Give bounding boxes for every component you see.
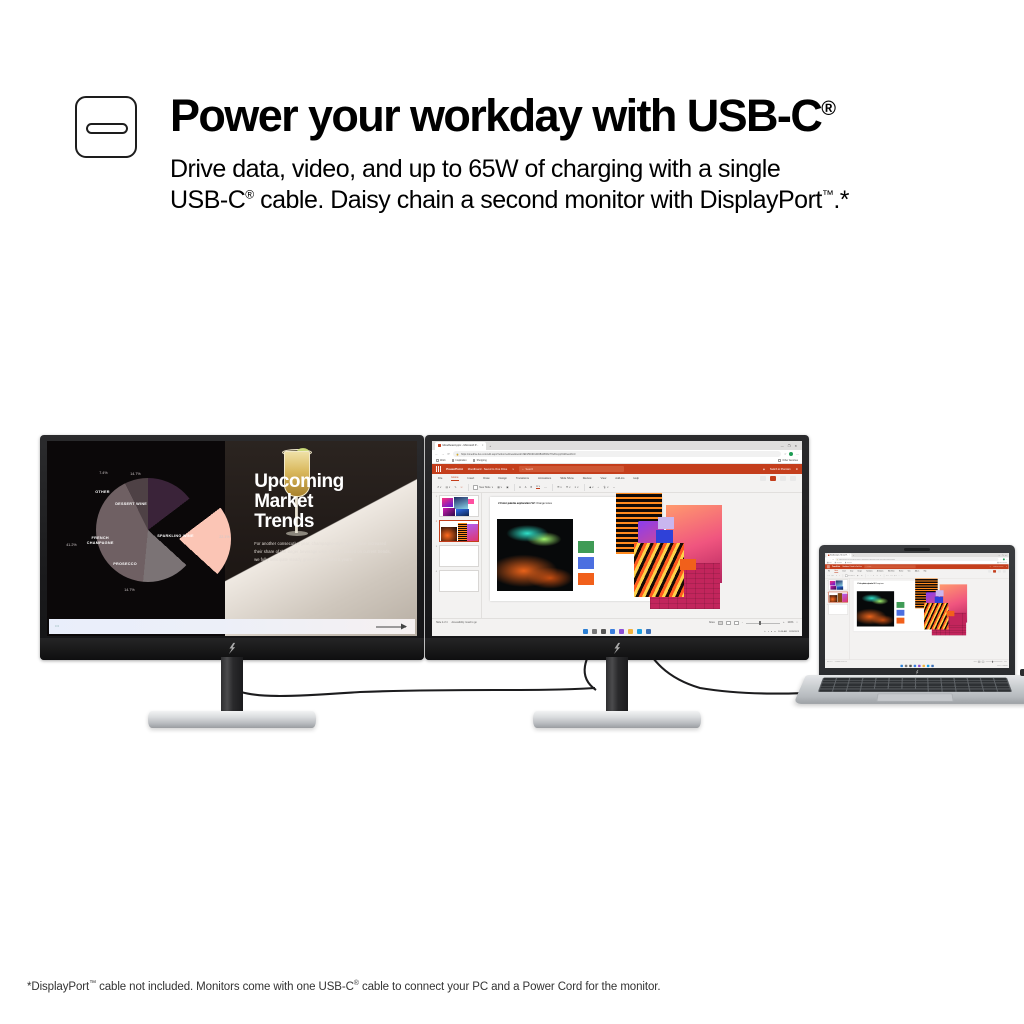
new-slide-button[interactable]: New Slide ∨ bbox=[845, 574, 855, 576]
reset-icon[interactable]: ▣ bbox=[861, 575, 862, 576]
color-swatch-orange[interactable] bbox=[897, 618, 905, 624]
slide-thumbnail-1[interactable] bbox=[439, 495, 480, 517]
slide-canvas[interactable]: // Color palette exploration V2: Orange … bbox=[490, 497, 662, 601]
normal-view-icon[interactable] bbox=[718, 621, 723, 625]
color-swatch-green[interactable] bbox=[897, 602, 905, 608]
thumb2-img-b bbox=[458, 523, 467, 541]
key[interactable] bbox=[847, 689, 860, 691]
minimize-icon[interactable]: — bbox=[999, 554, 1000, 556]
other-favorites-label: Other favorites bbox=[782, 459, 798, 462]
key[interactable] bbox=[875, 686, 888, 688]
color-swatch-blue[interactable] bbox=[897, 610, 905, 616]
key[interactable] bbox=[996, 684, 1009, 686]
other-favorites-button[interactable]: Other favorites bbox=[778, 459, 798, 462]
pie-chart: OTHER DESSERT WINE SPARKLING WINE PROSEC… bbox=[69, 462, 239, 618]
key[interactable] bbox=[943, 689, 956, 691]
slide-editor-pane[interactable]: // Color palette exploration V2: Orange … bbox=[482, 493, 802, 627]
tab-home[interactable]: Home bbox=[834, 570, 838, 572]
thumbnail-row[interactable]: 2 bbox=[826, 592, 848, 603]
tab-slide-show[interactable]: Slide Show bbox=[560, 477, 573, 480]
other-favorites-label: Other favorites bbox=[999, 562, 1007, 563]
key[interactable] bbox=[929, 689, 942, 691]
moodboard-image-chevron[interactable] bbox=[634, 543, 684, 597]
slide-body-text: For another consecutive year, champagne-… bbox=[254, 540, 395, 563]
laptop-address-bar[interactable]: 🔒 https://onedrive.live.com/edit.aspx?ac… bbox=[835, 558, 998, 561]
laptop-browser-tab-title: Moodboard.pptx - Microsoft P... bbox=[830, 554, 848, 555]
search-icon[interactable] bbox=[592, 629, 597, 634]
search-icon: ⌕ bbox=[866, 566, 867, 567]
editing-mode-button[interactable] bbox=[760, 476, 766, 481]
key[interactable] bbox=[847, 686, 860, 688]
zoom-level-label: 100% bbox=[1004, 661, 1007, 662]
share-icon[interactable] bbox=[790, 476, 796, 481]
ribbon-toolbar: ↺ ∨ ▤ ∨ ✎ ✂ New Slide ∨ ▦ ∨ ▣ A A B A ∨ bbox=[432, 482, 802, 493]
key[interactable] bbox=[957, 689, 970, 691]
thumbnail-row[interactable]: 3 bbox=[434, 545, 479, 567]
key[interactable] bbox=[902, 686, 915, 688]
color-swatch-orange-2[interactable] bbox=[680, 559, 696, 570]
pie-label-dessert-wine: DESSERT WINE bbox=[115, 502, 147, 506]
share-icon[interactable] bbox=[1003, 570, 1006, 572]
browser-tab[interactable]: Moodboard.pptx - Microsoft P... × bbox=[435, 442, 486, 450]
color-swatch-royal-blue[interactable] bbox=[656, 530, 673, 543]
shapes-icon[interactable]: ◆ ∨ bbox=[589, 486, 593, 489]
laptop-slide-heading-bold: // Color palette exploration V2: bbox=[857, 583, 875, 584]
slide-title-line-3: Trends bbox=[254, 511, 314, 532]
tab-draw[interactable]: Draw bbox=[483, 477, 489, 480]
font-more-icon[interactable]: ⋯ bbox=[544, 486, 547, 489]
undo-icon[interactable]: ↺ ∨ bbox=[437, 486, 442, 489]
tab-animations[interactable]: Animations bbox=[538, 477, 551, 480]
keyboard-row bbox=[820, 686, 1010, 688]
zoom-slider-handle[interactable] bbox=[992, 661, 993, 663]
zoom-in-icon[interactable]: + bbox=[783, 622, 784, 624]
spacebar-key[interactable] bbox=[860, 689, 928, 691]
color-swatch-lavender[interactable] bbox=[658, 517, 674, 529]
key[interactable] bbox=[984, 689, 997, 691]
search-icon: ⌕ bbox=[522, 468, 523, 471]
registered-mark: ® bbox=[821, 98, 836, 120]
tab-help[interactable]: Help bbox=[633, 477, 639, 480]
font-more-icon[interactable]: ⋯ bbox=[880, 575, 881, 576]
bookmark-star-icon[interactable]: ☆ bbox=[1000, 558, 1001, 560]
slide-count-label: Slide 2 of 4 bbox=[436, 622, 448, 624]
key[interactable] bbox=[834, 686, 847, 688]
bookmark-work[interactable]: Work bbox=[436, 459, 446, 462]
key[interactable] bbox=[968, 678, 981, 680]
page-subtitle: Drive data, video, and up to 65W of char… bbox=[170, 154, 1000, 216]
tab-insert[interactable]: Insert bbox=[468, 477, 475, 480]
laptop-trackpad[interactable] bbox=[876, 694, 953, 702]
bookmark-shopping[interactable]: Shopping bbox=[845, 562, 852, 563]
editing-mode-button[interactable] bbox=[988, 570, 991, 572]
new-tab-icon[interactable]: + bbox=[489, 444, 491, 448]
laptop-window-controls: — ❐ ✕ bbox=[999, 554, 1008, 556]
reading-view-icon[interactable] bbox=[734, 621, 739, 625]
slide-title-line-1: Upcoming bbox=[254, 471, 344, 492]
slide-thumbnail-pane[interactable]: 1 2 bbox=[432, 493, 482, 627]
tab-review[interactable]: Review bbox=[899, 570, 903, 571]
file-explorer-icon[interactable] bbox=[628, 629, 633, 634]
thumb2-img-a bbox=[829, 595, 837, 602]
widgets-icon[interactable] bbox=[914, 665, 916, 667]
notes-button[interactable]: Notes bbox=[974, 661, 977, 662]
left-monitor-screen[interactable]: OTHER DESSERT WINE SPARKLING WINE PROSEC… bbox=[47, 441, 417, 636]
color-swatch-orange-2[interactable] bbox=[947, 611, 955, 616]
key[interactable] bbox=[983, 686, 996, 688]
store-icon[interactable] bbox=[646, 629, 651, 634]
color-swatch-orange[interactable] bbox=[578, 573, 594, 585]
key[interactable] bbox=[970, 686, 983, 688]
clock-time[interactable]: 10:56 AM bbox=[997, 665, 1001, 666]
document-title[interactable]: Moodboard · Saved to One Drive bbox=[468, 468, 507, 471]
font-grow-icon[interactable]: A bbox=[519, 486, 521, 489]
ribbon-divider bbox=[468, 484, 469, 491]
gear-icon[interactable]: ⚙ bbox=[796, 468, 798, 471]
tab-home[interactable]: Home bbox=[451, 476, 458, 481]
edge-icon[interactable] bbox=[927, 665, 929, 667]
accessibility-label[interactable]: Accessibility: Good to go bbox=[452, 622, 477, 624]
font-color-icon[interactable]: A ∨ bbox=[536, 485, 540, 489]
font-color-icon[interactable]: A ∨ bbox=[876, 575, 878, 576]
tab-transitions[interactable]: Transitions bbox=[516, 477, 529, 480]
tab-file[interactable]: File bbox=[438, 477, 442, 480]
layout-icon[interactable]: ▦ ∨ bbox=[497, 486, 502, 489]
sorter-view-icon[interactable] bbox=[982, 661, 984, 663]
new-tab-icon[interactable]: + bbox=[853, 554, 854, 556]
gear-icon[interactable]: ⚙ bbox=[1006, 566, 1007, 567]
color-swatch-blue[interactable] bbox=[578, 557, 594, 569]
clock-time[interactable]: 10:56 AM bbox=[778, 631, 787, 633]
trademark-mark: ™ bbox=[822, 188, 834, 202]
key[interactable] bbox=[997, 686, 1010, 688]
normal-view-icon[interactable] bbox=[978, 661, 980, 663]
lock-icon: 🔒 bbox=[456, 453, 459, 456]
start-icon[interactable] bbox=[583, 629, 588, 634]
center-monitor-base bbox=[533, 711, 701, 728]
zoom-slider-handle[interactable] bbox=[759, 621, 761, 625]
bullets-icon[interactable]: ☰ ∨ bbox=[557, 486, 562, 489]
browser-more-icon[interactable]: ⋯ bbox=[1006, 558, 1008, 560]
subtitle-line-2c: .* bbox=[833, 186, 849, 214]
reset-icon[interactable]: ▣ bbox=[506, 486, 508, 489]
browser-titlebar: Moodboard.pptx - Microsoft P... × + — ❐ … bbox=[432, 441, 802, 450]
tab-help[interactable]: Help bbox=[924, 570, 927, 571]
thumbnail-number: 4 bbox=[434, 570, 437, 573]
pie-value-sparkling-wine: 22.1% bbox=[219, 535, 229, 539]
format-painter-icon[interactable]: ✎ bbox=[455, 486, 457, 489]
cut-icon[interactable]: ✂ bbox=[839, 575, 840, 576]
slide-thumbnail-3[interactable] bbox=[439, 545, 480, 567]
browser-more-icon[interactable]: ⋯ bbox=[796, 452, 799, 456]
slide-thumbnail-4[interactable] bbox=[439, 570, 480, 592]
tab-design[interactable]: Design bbox=[858, 570, 862, 571]
app-brand-label[interactable]: PowerPoint bbox=[832, 566, 840, 568]
format-painter-icon[interactable]: ✎ bbox=[836, 575, 837, 576]
zoom-slider[interactable] bbox=[746, 623, 780, 624]
key[interactable] bbox=[929, 686, 942, 688]
laptop-keyboard[interactable] bbox=[818, 677, 1012, 692]
tab-add-ins[interactable]: Add-ins bbox=[615, 477, 624, 480]
next-slide-arrow-icon[interactable] bbox=[376, 626, 406, 627]
undo-icon[interactable]: ↺ ∨ bbox=[827, 575, 829, 576]
key[interactable] bbox=[995, 681, 1008, 683]
align-icon[interactable]: ≡ ∨ bbox=[891, 575, 893, 576]
color-swatch-lavender[interactable] bbox=[936, 590, 944, 596]
align-icon[interactable]: ≡ ∨ bbox=[575, 486, 579, 489]
moodboard-image-chevron[interactable] bbox=[924, 603, 949, 629]
ribbon-tabs: File Home Insert Draw Design Transitions… bbox=[432, 474, 802, 482]
font-grow-icon[interactable]: A bbox=[868, 575, 869, 576]
comments-icon[interactable] bbox=[780, 476, 786, 481]
key[interactable] bbox=[982, 681, 995, 683]
file-explorer-icon[interactable] bbox=[922, 665, 924, 667]
key[interactable] bbox=[982, 684, 995, 686]
key[interactable] bbox=[981, 678, 994, 680]
ribbon-overflow-icon[interactable]: ⋯ bbox=[901, 575, 902, 576]
slide-heading[interactable]: // Color palette exploration V2: Orange … bbox=[498, 502, 552, 505]
bold-icon[interactable]: B bbox=[530, 486, 532, 489]
registered-mark-2: ® bbox=[245, 188, 253, 202]
tray-chevron-icon[interactable]: ∧ bbox=[764, 631, 766, 633]
new-slide-button[interactable]: New Slide ∨ bbox=[473, 485, 493, 490]
tab-insert[interactable]: Insert bbox=[842, 570, 845, 571]
headline-text: Power your workday with USB-C bbox=[170, 90, 821, 141]
tab-review[interactable]: Review bbox=[583, 477, 592, 480]
thumb1-img-b bbox=[454, 497, 468, 509]
minimize-icon[interactable]: — bbox=[781, 444, 784, 448]
close-tab-icon[interactable]: × bbox=[849, 554, 850, 555]
search-icon[interactable] bbox=[905, 665, 907, 667]
slide-thumbnail-2[interactable] bbox=[439, 520, 480, 542]
clock-date[interactable]: 11/28/2023 bbox=[1002, 665, 1007, 666]
app-brand-label[interactable]: PowerPoint bbox=[446, 467, 463, 471]
back-icon[interactable]: ← bbox=[826, 558, 828, 560]
laptop-editor-body: 1 2 bbox=[825, 578, 1009, 663]
search-box[interactable]: ⌕ Search bbox=[519, 466, 624, 472]
key[interactable] bbox=[968, 681, 981, 683]
store-icon[interactable] bbox=[931, 665, 933, 667]
bookmark-star-icon[interactable]: ☆ bbox=[784, 452, 787, 456]
key[interactable] bbox=[833, 689, 846, 691]
folder-icon bbox=[452, 459, 455, 462]
page-title: Power your workday with USB-C® bbox=[170, 92, 970, 140]
bookmark-inspiration[interactable]: Inspiration bbox=[452, 459, 467, 462]
maximize-icon[interactable]: ❐ bbox=[1002, 554, 1003, 556]
key[interactable] bbox=[819, 689, 832, 691]
close-window-icon[interactable]: ✕ bbox=[1005, 554, 1006, 556]
laptop-lid: Moodboard.pptx - Microsoft P... × + — ❐ … bbox=[819, 545, 1015, 677]
forward-icon[interactable]: → bbox=[441, 452, 444, 456]
present-button[interactable] bbox=[770, 476, 776, 481]
thumb2-img-a bbox=[441, 527, 457, 541]
dictate-icon[interactable]: 🎙 ∨ bbox=[603, 486, 609, 489]
edge-icon[interactable] bbox=[637, 629, 642, 634]
back-icon[interactable]: ← bbox=[435, 452, 438, 456]
laptop-slide-thumbnail-2[interactable] bbox=[828, 592, 848, 603]
ribbon-divider-4 bbox=[584, 484, 585, 491]
key[interactable] bbox=[888, 686, 901, 688]
subtitle-line-2a: USB-C bbox=[170, 186, 245, 214]
switch-to-premium-button[interactable]: Switch to Premium bbox=[770, 468, 791, 471]
bold-icon[interactable]: B bbox=[873, 575, 874, 576]
numbering-icon[interactable]: ☲ ∨ bbox=[566, 486, 571, 489]
maximize-icon[interactable]: ❐ bbox=[788, 444, 791, 448]
folder-icon bbox=[473, 459, 476, 462]
bookmark-shopping[interactable]: Shopping bbox=[473, 459, 487, 462]
laptop-status-bar-right: Notes 100% bbox=[974, 661, 1007, 663]
laptop-slide-heading[interactable]: // Color palette exploration V2: Orange … bbox=[857, 583, 883, 584]
switch-to-premium-button[interactable]: Switch to Premium bbox=[993, 566, 1003, 567]
comments-icon[interactable] bbox=[998, 570, 1001, 572]
lock-icon: 🔒 bbox=[837, 559, 838, 560]
app-launcher-icon[interactable] bbox=[436, 466, 441, 471]
cut-icon[interactable]: ✂ bbox=[461, 486, 463, 489]
zoom-out-icon[interactable]: − bbox=[742, 622, 743, 624]
bookmark-work-label: Work bbox=[829, 562, 832, 563]
tab-add-ins[interactable]: Add-ins bbox=[915, 570, 919, 571]
key[interactable] bbox=[994, 678, 1007, 680]
paste-icon[interactable]: ▤ ∨ bbox=[832, 575, 834, 576]
profile-avatar[interactable] bbox=[789, 452, 793, 456]
laptop-ribbon-right bbox=[988, 570, 1006, 572]
browser-toolbar: ← → ⟳ 🔒 https://onedrive.live.com/edit.a… bbox=[432, 450, 802, 458]
color-swatch-green[interactable] bbox=[578, 541, 594, 553]
close-tab-icon[interactable]: × bbox=[482, 444, 484, 447]
font-shrink-icon[interactable]: A bbox=[870, 575, 871, 576]
widgets-icon[interactable] bbox=[610, 629, 615, 634]
pie-value-prosecco: 14.7% bbox=[124, 588, 134, 592]
reload-icon[interactable]: ⟳ bbox=[833, 558, 834, 560]
pie-label-prosecco: PROSECCO bbox=[113, 562, 137, 566]
find-icon[interactable]: ⌕ bbox=[598, 486, 599, 489]
font-shrink-icon[interactable]: A bbox=[525, 486, 527, 489]
slide-title: Upcoming Market Trends bbox=[254, 472, 344, 532]
battery-icon[interactable]: ▭ bbox=[774, 631, 776, 633]
shapes-icon[interactable]: ◆ ∨ bbox=[895, 575, 897, 576]
laptop-slide-canvas[interactable]: // Color palette exploration V2: Orange … bbox=[853, 580, 937, 631]
address-bar[interactable]: 🔒 https://onedrive.live.com/edit.aspx?ac… bbox=[453, 451, 781, 457]
laptop-slide-thumbnail-1[interactable] bbox=[828, 579, 848, 590]
window-controls: — ❐ ✕ bbox=[781, 444, 799, 448]
key[interactable] bbox=[943, 686, 956, 688]
laptop-windows-taskbar: 10:56 AM 11/28/2023 bbox=[825, 664, 1009, 668]
fit-to-window-icon[interactable]: ⛶ bbox=[796, 622, 798, 624]
browser-toolbar-right: ☆ ⋯ bbox=[784, 452, 799, 456]
moodboard-image-teal-orange[interactable] bbox=[857, 591, 894, 626]
editor-body: 1 2 bbox=[432, 493, 802, 627]
tab-draw[interactable]: Draw bbox=[850, 570, 853, 571]
paste-icon[interactable]: ▤ ∨ bbox=[446, 486, 451, 489]
tab-slide-show[interactable]: Slide Show bbox=[888, 570, 895, 571]
thumbnail-row[interactable]: 2 bbox=[434, 520, 479, 542]
thumbnail-row[interactable]: 1 bbox=[434, 495, 479, 517]
chat-icon[interactable] bbox=[619, 629, 624, 634]
left-monitor: OTHER DESSERT WINE SPARKLING WINE PROSEC… bbox=[40, 435, 424, 660]
thumbnail-number: 3 bbox=[434, 545, 437, 548]
windows-taskbar: ∧ ◗ ◂ ▭ 10:56 AM 11/28/2023 bbox=[432, 627, 802, 636]
clock-date[interactable]: 11/28/2023 bbox=[789, 631, 799, 633]
thumbnail-row[interactable]: 4 bbox=[434, 570, 479, 592]
subtitle-line-2b: cable. Daisy chain a second monitor with… bbox=[254, 186, 822, 214]
sorter-view-icon[interactable] bbox=[726, 621, 731, 625]
key[interactable] bbox=[916, 686, 929, 688]
layout-icon[interactable]: ▦ ∨ bbox=[857, 575, 859, 576]
laptop-search-box[interactable]: ⌕ Search bbox=[864, 565, 915, 568]
footnote-tm: ™ bbox=[89, 980, 96, 987]
ribbon-overflow-icon[interactable]: ⋯ bbox=[613, 486, 616, 489]
footnote-part-b: cable not included. Monitors come with o… bbox=[96, 981, 354, 993]
key[interactable] bbox=[997, 689, 1010, 691]
laptop-address-bar-url: https://onedrive.live.com/edit.aspx?acti… bbox=[839, 559, 895, 560]
key[interactable] bbox=[970, 689, 983, 691]
tab-view[interactable]: View bbox=[601, 477, 607, 480]
moodboard-image-teal-orange[interactable] bbox=[497, 519, 573, 591]
bullets-icon[interactable]: ☰ ∨ bbox=[886, 575, 888, 576]
tab-transitions[interactable]: Transitions bbox=[866, 570, 872, 571]
key[interactable] bbox=[956, 686, 969, 688]
key[interactable] bbox=[861, 686, 874, 688]
task-view-icon[interactable] bbox=[909, 665, 911, 667]
task-view-icon[interactable] bbox=[601, 629, 606, 634]
new-slide-label: New Slide bbox=[479, 486, 490, 489]
close-window-icon[interactable]: ✕ bbox=[794, 444, 797, 448]
notes-button[interactable]: Notes bbox=[709, 622, 715, 624]
center-monitor-screen[interactable]: Moodboard.pptx - Microsoft P... × + — ❐ … bbox=[432, 441, 802, 636]
thumbnail-number: 2 bbox=[434, 520, 437, 523]
reload-icon[interactable]: ⟳ bbox=[447, 452, 450, 456]
bookmark-work[interactable]: Work bbox=[827, 562, 832, 563]
system-tray: ∧ ◗ ◂ ▭ 10:56 AM 11/28/2023 bbox=[764, 631, 799, 633]
ribbon-divider-3 bbox=[552, 484, 553, 491]
laptop-slide-thumbnail-pane[interactable]: 1 2 bbox=[825, 578, 850, 663]
other-favorites-button[interactable]: Other favorites bbox=[997, 562, 1007, 563]
thumbnail-row[interactable]: 1 bbox=[826, 579, 848, 590]
laptop: Moodboard.pptx - Microsoft P... × + — ❐ … bbox=[806, 545, 1024, 730]
find-icon[interactable]: ⌕ bbox=[899, 575, 900, 576]
forward-icon[interactable]: → bbox=[830, 558, 832, 560]
laptop-slide-thumbnail-3[interactable] bbox=[828, 604, 848, 615]
bookmark-inspiration[interactable]: Inspiration bbox=[835, 562, 842, 563]
left-monitor-taskbar[interactable]: ••• bbox=[49, 619, 415, 634]
document-title-caret-icon[interactable]: ∨ bbox=[512, 467, 514, 471]
laptop-screen[interactable]: Moodboard.pptx - Microsoft P... × + — ❐ … bbox=[825, 553, 1009, 668]
key[interactable] bbox=[969, 684, 982, 686]
address-bar-url: https://onedrive.live.com/edit.aspx?acti… bbox=[461, 453, 576, 456]
accessibility-label[interactable]: Accessibility: Good to go bbox=[835, 661, 847, 662]
key[interactable] bbox=[820, 686, 833, 688]
browser-tab-title: Moodboard.pptx - Microsoft P... bbox=[443, 444, 479, 447]
profile-avatar[interactable] bbox=[1003, 558, 1005, 560]
tab-animations[interactable]: Animations bbox=[877, 570, 884, 571]
start-icon[interactable] bbox=[900, 665, 902, 667]
tab-view[interactable]: View bbox=[908, 570, 911, 571]
laptop-slide-editor-pane[interactable]: // Color palette exploration V2: Orange … bbox=[850, 578, 1009, 663]
wifi-icon[interactable]: ◗ bbox=[768, 631, 769, 633]
ribbon-tabs-right bbox=[760, 476, 796, 481]
chat-icon[interactable] bbox=[918, 665, 920, 667]
volume-icon[interactable]: ◂ bbox=[771, 631, 772, 633]
pie-label-sparkling-wine: SPARKLING WINE bbox=[157, 534, 194, 538]
app-launcher-icon[interactable] bbox=[827, 565, 830, 568]
tab-design[interactable]: Design bbox=[499, 477, 507, 480]
bookmark-work-label: Work bbox=[440, 459, 446, 462]
laptop-document-title[interactable]: Moodboard · Saved to One Drive bbox=[843, 566, 862, 567]
powerpoint-favicon-icon bbox=[438, 444, 441, 447]
present-button[interactable] bbox=[993, 570, 996, 572]
tab-file[interactable]: File bbox=[828, 570, 830, 571]
thumbnail-row[interactable]: 3 bbox=[826, 604, 848, 615]
